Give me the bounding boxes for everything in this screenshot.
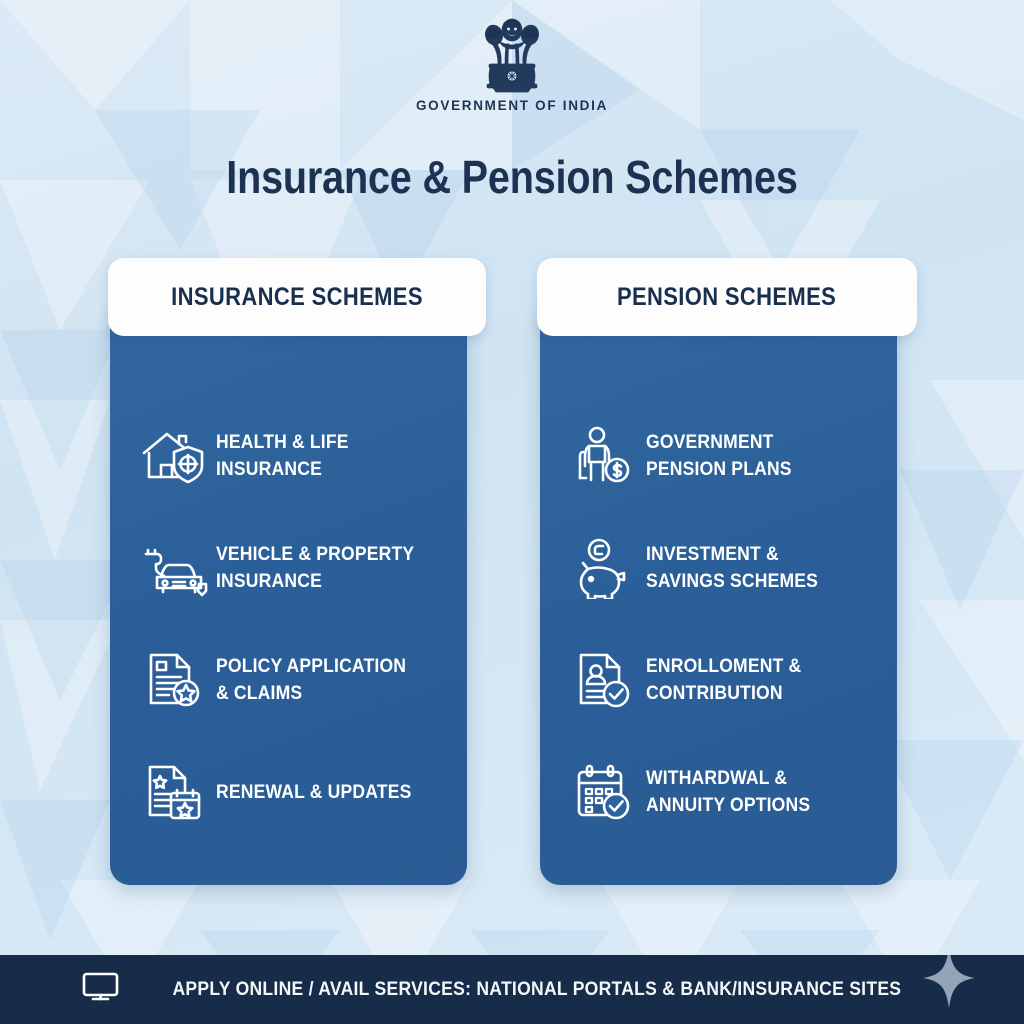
card-insurance-schemes: HEALTH & LIFE INSURANCE VEHICLE &	[110, 300, 467, 885]
footer-content: APPLY ONLINE / AVAIL SERVICES: NATIONAL …	[82, 972, 942, 1007]
list-item-label: POLICY APPLICATION & CLAIMS	[216, 653, 406, 707]
list-item-label: GOVERNMENT PENSION PLANS	[646, 429, 792, 483]
card-header-insurance[interactable]: INSURANCE SCHEMES	[108, 258, 486, 336]
document-person-check-icon	[562, 644, 646, 716]
house-shield-icon	[132, 420, 216, 492]
government-emblem-block: GOVERNMENT OF INDIA	[0, 14, 1024, 113]
document-star-icon	[132, 644, 216, 716]
list-item[interactable]: VEHICLE & PROPERTY INSURANCE	[132, 512, 445, 624]
elderly-person-coin-icon	[562, 420, 646, 492]
list-item[interactable]: HEALTH & LIFE INSURANCE	[132, 400, 445, 512]
list-item-label: HEALTH & LIFE INSURANCE	[216, 429, 422, 483]
list-item[interactable]: INVESTMENT & SAVINGS SCHEMES	[562, 512, 875, 624]
list-item[interactable]: POLICY APPLICATION & CLAIMS	[132, 624, 445, 736]
list-item-label: INVESTMENT & SAVINGS SCHEMES	[646, 541, 818, 595]
piggy-bank-icon	[562, 532, 646, 604]
list-item[interactable]: RENEWAL & UPDATES	[132, 736, 445, 848]
card-header-pension[interactable]: PENSION SCHEMES	[537, 258, 917, 336]
government-of-india-label: GOVERNMENT OF INDIA	[0, 98, 1024, 113]
list-item-label: VEHICLE & PROPERTY INSURANCE	[216, 541, 414, 595]
list-item[interactable]: ENROLLOMENT & CONTRIBUTION	[562, 624, 875, 736]
pension-items-list: GOVERNMENT PENSION PLANS INVESTMENT & SA…	[540, 400, 897, 848]
card-header-label: PENSION SCHEMES	[617, 283, 836, 312]
page-title: Insurance & Pension Schemes	[72, 150, 953, 204]
calendar-check-icon	[562, 756, 646, 828]
ashoka-lion-capital-emblem-icon	[475, 14, 549, 94]
insurance-items-list: HEALTH & LIFE INSURANCE VEHICLE &	[110, 400, 467, 848]
card-pension-schemes: GOVERNMENT PENSION PLANS INVESTMENT & SA…	[540, 300, 897, 885]
infographic-poster: GOVERNMENT OF INDIA Insurance & Pension …	[0, 0, 1024, 1024]
card-header-label: INSURANCE SCHEMES	[171, 283, 423, 312]
footer-label: APPLY ONLINE / AVAIL SERVICES: NATIONAL …	[173, 978, 902, 1001]
list-item-label: RENEWAL & UPDATES	[216, 779, 411, 806]
list-item-label: WITHARDWAL & ANNUITY OPTIONS	[646, 765, 810, 819]
footer-bar: APPLY ONLINE / AVAIL SERVICES: NATIONAL …	[0, 955, 1024, 1024]
list-item-label: ENROLLOMENT & CONTRIBUTION	[646, 653, 801, 707]
car-plug-icon	[132, 532, 216, 604]
document-calendar-star-icon	[132, 756, 216, 828]
monitor-icon	[82, 972, 119, 1007]
list-item[interactable]: GOVERNMENT PENSION PLANS	[562, 400, 875, 512]
four-point-star-icon	[921, 955, 977, 1010]
list-item[interactable]: WITHARDWAL & ANNUITY OPTIONS	[562, 736, 875, 848]
